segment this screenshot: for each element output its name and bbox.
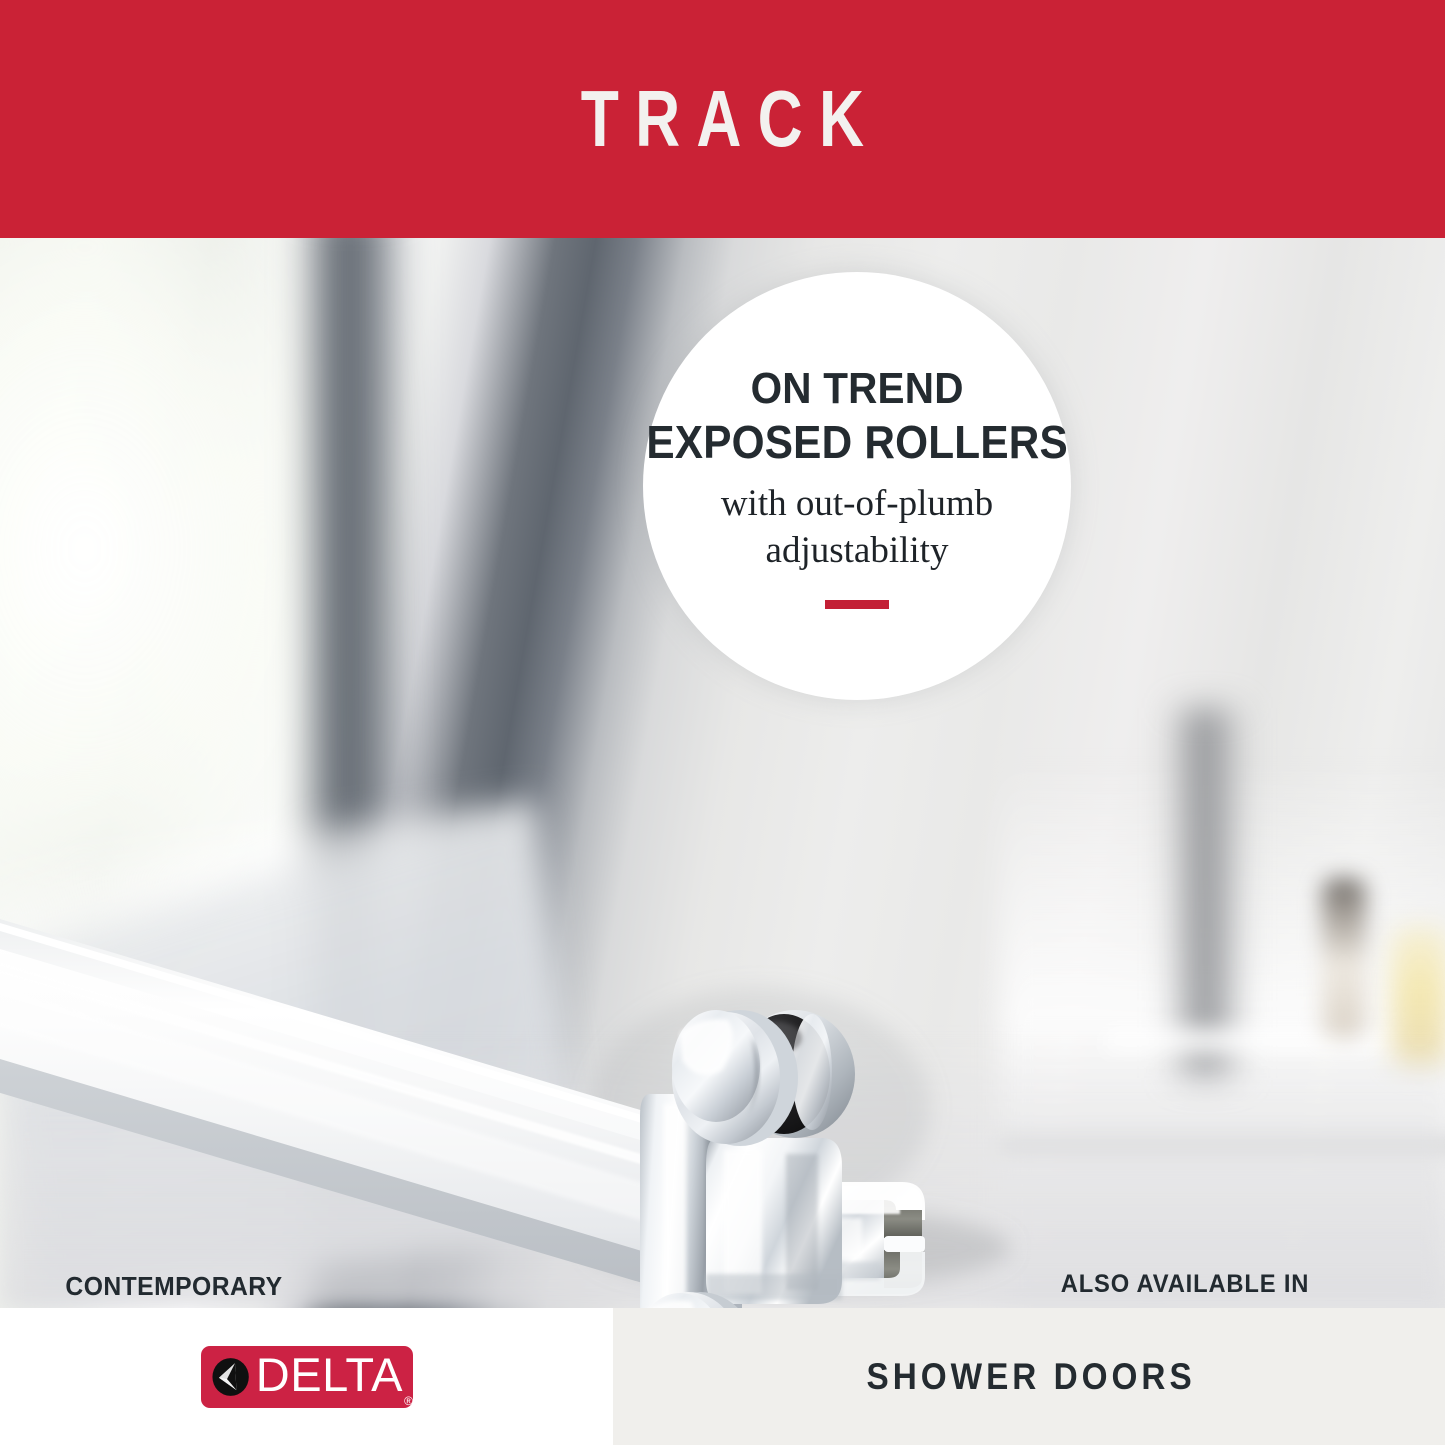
track-rail [0,910,714,1300]
callout-subhead: with out-of-plumb adjustability [721,481,993,574]
delta-wordmark: DELTA® [256,1351,413,1398]
callout-divider-rule [825,600,889,609]
roller-cap-disc-upper [672,1010,798,1146]
registered-mark: ® [404,1394,413,1408]
footer-category-label: SHOWER DOORS [862,1356,1195,1398]
finish-options: ALSO AVAILABLE IN BRUSHED NICKEL BRONZE … [950,1270,1420,1308]
delta-triangle-mark-icon [211,1350,250,1404]
product-feature-poster: TRACK [0,0,1445,1445]
callout-headline: ON TREND EXPOSED ROLLERS [646,363,1068,469]
hero-photo: ON TREND EXPOSED ROLLERS with out-of-plu… [0,238,1445,1308]
delta-wordmark-text: DELTA [256,1348,403,1401]
callout-subhead-line1: with out-of-plumb [721,481,993,528]
finish-options-title: ALSO AVAILABLE IN [962,1270,1409,1299]
footer-brand-panel: DELTA® [0,1308,613,1445]
page-title: TRACK [565,79,881,159]
header-banner: TRACK [0,0,1445,238]
delta-logo: DELTA® [201,1346,413,1408]
footer-category-panel: SHOWER DOORS [613,1308,1445,1445]
roller-mount-block [706,1138,842,1304]
feature-callout: ON TREND EXPOSED ROLLERS with out-of-plu… [643,272,1071,700]
callout-subhead-line2: adjustability [721,528,993,575]
callout-headline-line2: EXPOSED ROLLERS [646,415,1068,469]
footer-bar: DELTA® SHOWER DOORS [0,1308,1445,1445]
callout-headline-line1: ON TREND [646,363,1068,415]
product-caption: CONTEMPORARY TRACK IN POLISHED CHROME [32,1270,317,1308]
